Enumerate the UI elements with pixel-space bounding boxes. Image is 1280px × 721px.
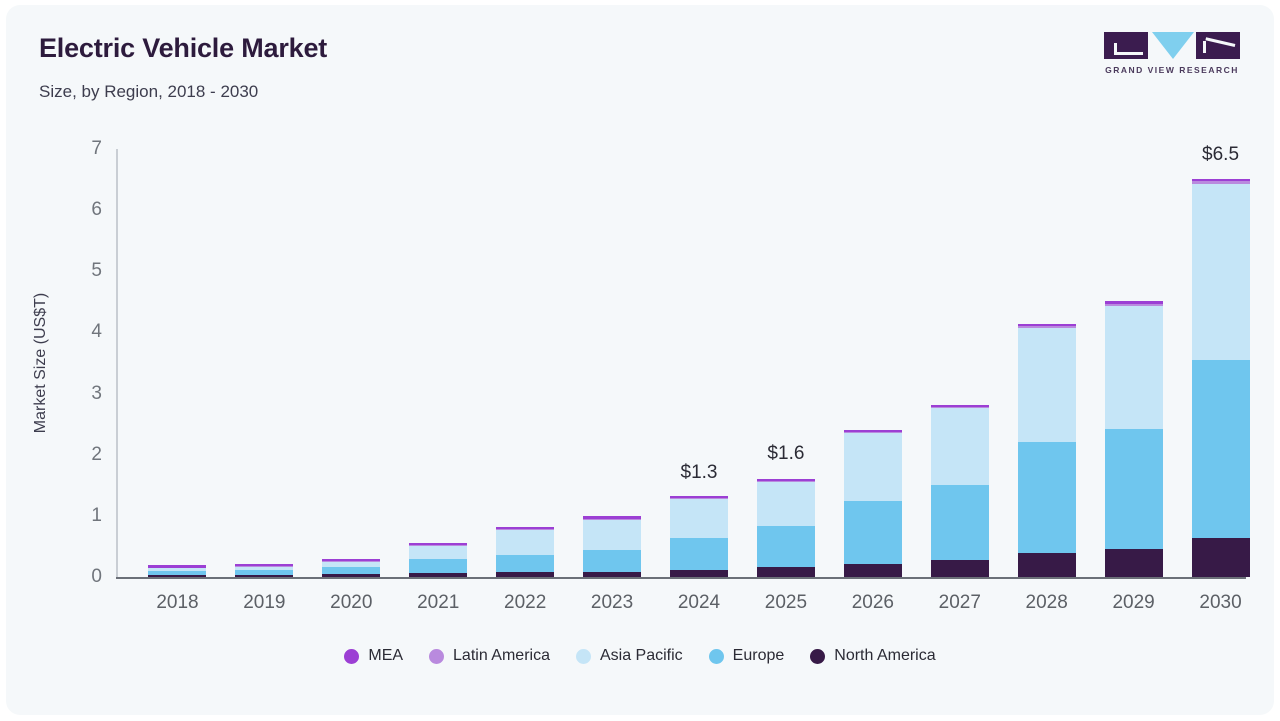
- bar-group-2024[interactable]: $1.32024: [670, 149, 728, 577]
- bar-segment-mea[interactable]: [1018, 324, 1076, 327]
- bar-segment-asia-pacific[interactable]: [931, 408, 989, 485]
- chart-card: Electric Vehicle Market Size, by Region,…: [6, 5, 1274, 715]
- bar-segment-asia-pacific[interactable]: [409, 546, 467, 559]
- bar-group-2027[interactable]: 2027: [931, 149, 989, 577]
- x-axis-tick-label: 2022: [504, 592, 546, 614]
- bar-segment-north-america[interactable]: [1192, 538, 1250, 577]
- bar-segment-north-america[interactable]: [931, 560, 989, 577]
- bar-segment-mea[interactable]: [844, 430, 902, 433]
- legend-swatch-icon: [576, 649, 591, 664]
- x-axis-tick-label: 2030: [1199, 592, 1241, 614]
- bar-segment-europe[interactable]: [757, 526, 815, 567]
- bar-segment-europe[interactable]: [322, 567, 380, 574]
- bar-group-2029[interactable]: 2029: [1105, 149, 1163, 577]
- page-subtitle: Size, by Region, 2018 - 2030: [39, 82, 258, 102]
- bar-group-2026[interactable]: 2026: [844, 149, 902, 577]
- bar-segment-europe[interactable]: [931, 485, 989, 560]
- bar-segment-mea[interactable]: [322, 559, 380, 562]
- bar-segment-mea[interactable]: [1105, 301, 1163, 304]
- y-axis-tick-label: 5: [91, 260, 102, 282]
- bar-segment-mea[interactable]: [409, 543, 467, 546]
- x-axis-tick-label: 2020: [330, 592, 372, 614]
- x-axis-tick-label: 2026: [852, 592, 894, 614]
- logo-marks: [1104, 32, 1240, 60]
- bar-segment-europe[interactable]: [1018, 442, 1076, 553]
- bar-segment-north-america[interactable]: [583, 572, 641, 578]
- bar-group-2022[interactable]: 2022: [496, 149, 554, 577]
- x-axis-tick-label: 2029: [1112, 592, 1154, 614]
- bar-segment-asia-pacific[interactable]: [1018, 328, 1076, 442]
- grand-view-research-logo: GRAND VIEW RESEARCH: [1104, 32, 1240, 80]
- legend-item-label: North America: [834, 647, 935, 665]
- bar-segment-north-america[interactable]: [844, 564, 902, 577]
- x-axis-line: [116, 577, 1246, 579]
- y-axis-line: [116, 149, 118, 577]
- y-axis-tick-label: 4: [91, 321, 102, 343]
- bar-segment-asia-pacific[interactable]: [235, 567, 293, 570]
- bar-segment-europe[interactable]: [670, 538, 728, 570]
- bar-segment-north-america[interactable]: [1105, 549, 1163, 577]
- bar-segment-asia-pacific[interactable]: [757, 482, 815, 525]
- bar-segment-north-america[interactable]: [322, 574, 380, 577]
- bar-segment-mea[interactable]: [235, 564, 293, 567]
- legend-swatch-icon: [344, 649, 359, 664]
- legend-item-asia-pacific[interactable]: Asia Pacific: [576, 647, 683, 665]
- bar-segment-north-america[interactable]: [496, 572, 554, 577]
- bar-segment-asia-pacific[interactable]: [583, 520, 641, 550]
- bar-segment-mea[interactable]: [670, 496, 728, 499]
- bar-segment-asia-pacific[interactable]: [322, 562, 380, 568]
- bar-segment-latin-america[interactable]: [1192, 181, 1250, 184]
- bar-segment-europe[interactable]: [1105, 429, 1163, 549]
- bar-group-2030[interactable]: $6.52030: [1192, 149, 1250, 577]
- legend-swatch-icon: [429, 649, 444, 664]
- x-axis-tick-label: 2028: [1026, 592, 1068, 614]
- legend-item-label: MEA: [368, 647, 403, 665]
- x-axis-tick-label: 2025: [765, 592, 807, 614]
- bar-segment-europe[interactable]: [1192, 360, 1250, 539]
- legend-item-latin-america[interactable]: Latin America: [429, 647, 550, 665]
- bar-segment-north-america[interactable]: [1018, 553, 1076, 577]
- legend-item-north-america[interactable]: North America: [810, 647, 935, 665]
- chart-legend: MEALatin AmericaAsia PacificEuropeNorth …: [6, 647, 1274, 665]
- bar-segment-europe[interactable]: [409, 559, 467, 573]
- y-axis-title: Market Size (US$T): [32, 293, 50, 433]
- bar-segment-europe[interactable]: [148, 571, 206, 575]
- bar-value-label: $1.3: [681, 462, 718, 484]
- bar-group-2025[interactable]: $1.62025: [757, 149, 815, 577]
- bar-group-2019[interactable]: 2019: [235, 149, 293, 577]
- logo-letter-r-icon: [1196, 32, 1240, 59]
- bar-segment-north-america[interactable]: [235, 575, 293, 578]
- logo-wordmark: GRAND VIEW RESEARCH: [1104, 65, 1240, 75]
- bar-group-2021[interactable]: 2021: [409, 149, 467, 577]
- bar-segment-mea[interactable]: [583, 516, 641, 519]
- bar-segment-north-america[interactable]: [409, 573, 467, 577]
- page-title: Electric Vehicle Market: [39, 33, 327, 64]
- bar-segment-mea[interactable]: [148, 565, 206, 568]
- legend-item-label: Latin America: [453, 647, 550, 665]
- legend-item-europe[interactable]: Europe: [709, 647, 785, 665]
- y-axis-tick-label: 1: [91, 505, 102, 527]
- bar-value-label: $6.5: [1202, 144, 1239, 166]
- bar-segment-europe[interactable]: [583, 550, 641, 572]
- legend-item-label: Asia Pacific: [600, 647, 683, 665]
- bar-segment-asia-pacific[interactable]: [148, 568, 206, 571]
- y-axis-tick-label: 6: [91, 199, 102, 221]
- bar-group-2028[interactable]: 2028: [1018, 149, 1076, 577]
- bar-segment-mea[interactable]: [757, 479, 815, 482]
- logo-letter-v-icon: [1152, 32, 1194, 59]
- bar-segment-europe[interactable]: [844, 501, 902, 563]
- legend-item-label: Europe: [733, 647, 785, 665]
- bar-group-2020[interactable]: 2020: [322, 149, 380, 577]
- bar-segment-asia-pacific[interactable]: [670, 499, 728, 538]
- bar-segment-mea[interactable]: [1192, 179, 1250, 182]
- bar-segment-europe[interactable]: [235, 570, 293, 575]
- bar-segment-asia-pacific[interactable]: [844, 433, 902, 501]
- x-axis-tick-label: 2021: [417, 592, 459, 614]
- y-axis-tick-label: 2: [91, 444, 102, 466]
- bar-segment-asia-pacific[interactable]: [1192, 184, 1250, 360]
- x-axis-tick-label: 2019: [243, 592, 285, 614]
- legend-swatch-icon: [709, 649, 724, 664]
- y-axis-tick-label: 7: [91, 138, 102, 160]
- bar-segment-mea[interactable]: [496, 527, 554, 530]
- chart-plot-area: Market Size (US$T) 01234567 201820192020…: [116, 149, 1246, 577]
- x-axis-tick-label: 2024: [678, 592, 720, 614]
- bar-group-2023[interactable]: 2023: [583, 149, 641, 577]
- bar-segment-asia-pacific[interactable]: [496, 530, 554, 555]
- y-axis-tick-label: 0: [91, 566, 102, 588]
- bar-value-label: $1.6: [767, 443, 804, 465]
- x-axis-tick-label: 2023: [591, 592, 633, 614]
- bar-segment-europe[interactable]: [496, 555, 554, 572]
- bar-segment-asia-pacific[interactable]: [1105, 306, 1163, 430]
- y-axis-tick-label: 3: [91, 383, 102, 405]
- bar-segment-mea[interactable]: [931, 405, 989, 408]
- x-axis-tick-label: 2018: [156, 592, 198, 614]
- logo-letter-g-icon: [1104, 32, 1148, 59]
- bar-group-2018[interactable]: 2018: [148, 149, 206, 577]
- bar-segment-north-america[interactable]: [757, 567, 815, 577]
- bar-segment-north-america[interactable]: [670, 570, 728, 577]
- legend-swatch-icon: [810, 649, 825, 664]
- legend-item-mea[interactable]: MEA: [344, 647, 403, 665]
- x-axis-tick-label: 2027: [939, 592, 981, 614]
